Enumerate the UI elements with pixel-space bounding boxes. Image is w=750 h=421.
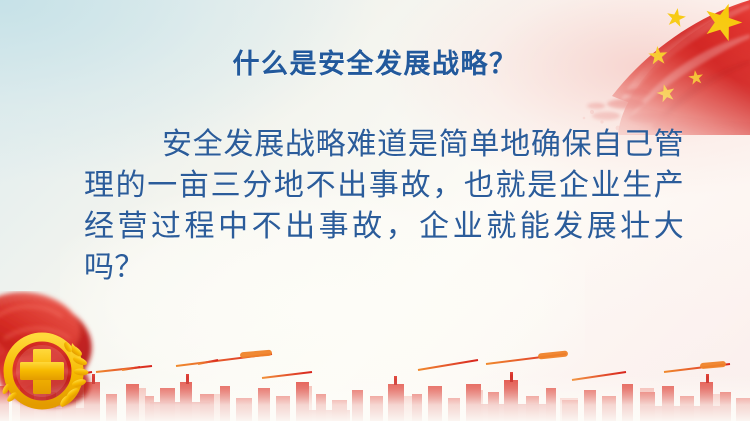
slide-body-paragraph: 安全发展战略难道是简单地确保自己管理的一亩三分地不出事故，也就是企业生产经营过程… — [84, 124, 684, 288]
presentation-slide: 什么是安全发展战略？ 安全发展战略难道是简单地确保自己管理的一亩三分地不出事故，… — [0, 0, 750, 421]
page-title: 什么是安全发展战略？ — [0, 42, 750, 81]
safety-emblem-decoration — [0, 291, 144, 421]
safety-emblem-icon — [0, 291, 144, 421]
